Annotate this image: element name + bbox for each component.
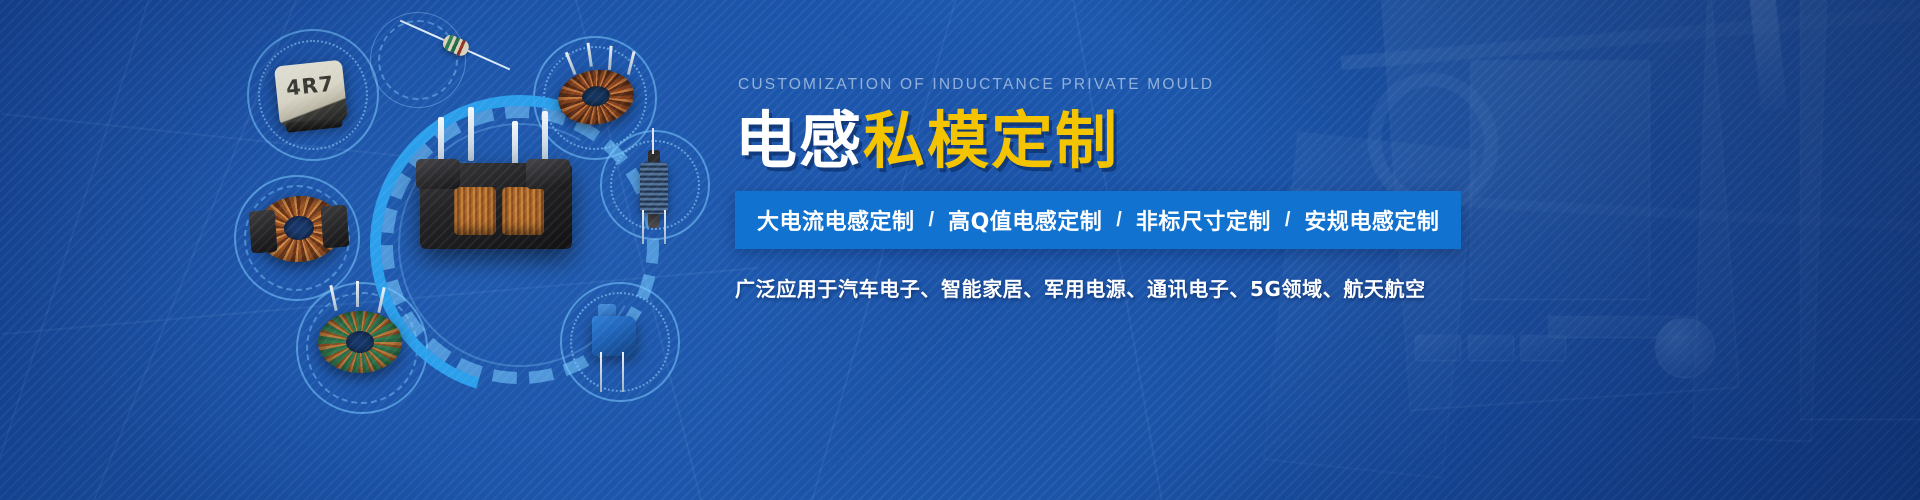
- page-title: 电感私模定制: [735, 108, 1375, 173]
- feature-item-3: 安规电感定制: [1304, 204, 1439, 236]
- headline-accent: 私模定制: [863, 104, 1119, 177]
- axial-color-band-body: [441, 33, 471, 58]
- rod-lead: [642, 210, 644, 244]
- application-description: 广泛应用于汽车电子、智能家居、军用电源、通讯电子、5G领域、航天航空: [735, 273, 1375, 302]
- hero-choke-copper-winding: [454, 187, 496, 235]
- rod-lead: [664, 210, 666, 244]
- toroid-pin: [608, 46, 613, 70]
- hero-choke-pin: [468, 107, 474, 161]
- feature-list-bar: 大电流电感定制 / 高Q值电感定制 / 非标尺寸定制 / 安规电感定制: [735, 191, 1461, 249]
- promotional-banner: 4R7: [0, 0, 1920, 500]
- english-tagline: CUSTOMIZATION OF INDUCTANCE PRIVATE MOUL…: [738, 76, 1375, 94]
- product-smd-power-inductor: 4R7: [274, 60, 348, 129]
- small-toroid-base-right: [320, 205, 349, 249]
- banner-text-block: CUSTOMIZATION OF INDUCTANCE PRIVATE MOUL…: [735, 76, 1375, 302]
- green-toroid-pin: [356, 281, 359, 307]
- green-toroid-center-hole: [346, 331, 374, 353]
- feature-separator: /: [1271, 209, 1305, 232]
- product-green-toroidal-choke: [312, 305, 408, 379]
- hero-choke-copper-winding: [502, 187, 544, 235]
- hero-choke-pin: [542, 111, 548, 165]
- product-hero-bobbin-choke: [414, 115, 574, 260]
- hero-choke-end-cap: [526, 159, 570, 189]
- headline-primary: 电感: [735, 104, 863, 177]
- feature-item-0: 大电流电感定制: [757, 204, 915, 236]
- product-small-toroidal-inductor: [254, 193, 344, 265]
- feature-item-2: 非标尺寸定制: [1136, 204, 1271, 236]
- feature-separator: /: [1102, 209, 1136, 232]
- feature-item-1: 高Q值电感定制: [948, 204, 1102, 236]
- blue-inductor-lead: [622, 352, 624, 392]
- blue-inductor-body: [592, 316, 636, 356]
- blue-inductor-lead: [600, 352, 602, 392]
- rod-top-lead: [652, 128, 654, 154]
- toroid-pin: [565, 52, 577, 75]
- hero-choke-end-cap: [416, 159, 460, 189]
- rod-coil-winding: [640, 162, 668, 214]
- toroid-pin: [627, 51, 636, 75]
- feature-separator: /: [915, 209, 949, 232]
- product-blue-radial-inductor: [578, 300, 648, 386]
- product-rod-core-choke: [622, 140, 686, 245]
- small-toroid-base-left: [249, 210, 278, 254]
